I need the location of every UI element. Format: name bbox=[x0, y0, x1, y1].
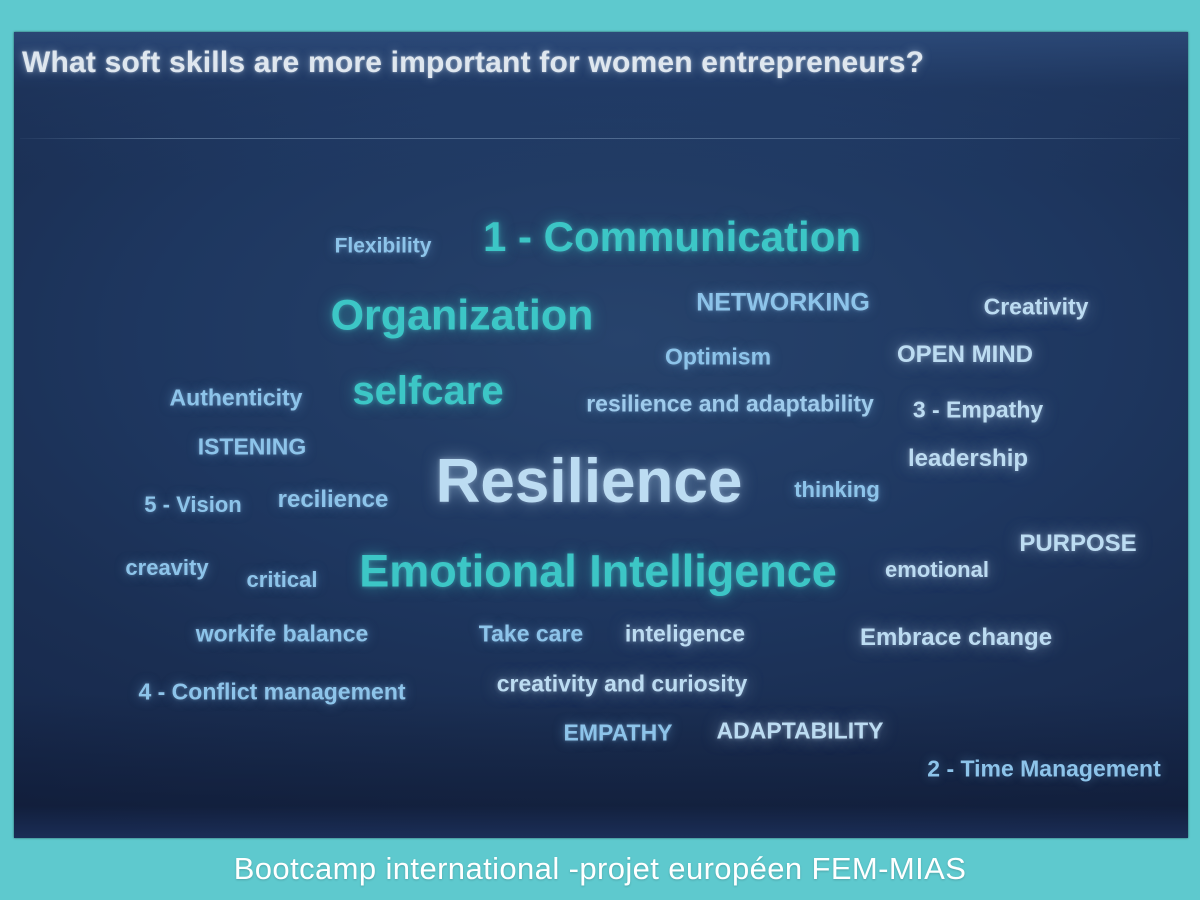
word-cloud-term: Authenticity bbox=[170, 387, 303, 410]
word-cloud-term: thinking bbox=[794, 479, 880, 501]
word-cloud-term: 1 - Communication bbox=[483, 216, 861, 258]
word-cloud-term: recilience bbox=[278, 488, 389, 512]
word-cloud-term: leadership bbox=[908, 447, 1028, 471]
word-cloud-term: workife balance bbox=[196, 623, 369, 646]
word-cloud-term: EMPATHY bbox=[563, 722, 672, 745]
word-cloud-term: creavity bbox=[125, 557, 208, 579]
word-cloud-term: 2 - Time Management bbox=[927, 758, 1160, 781]
caption-banner: Bootcamp international -projet européen … bbox=[0, 838, 1200, 900]
word-cloud-term: Flexibility bbox=[335, 236, 432, 257]
word-cloud-term: Resilience bbox=[436, 451, 743, 513]
word-cloud-term: Optimism bbox=[665, 346, 771, 369]
word-cloud-term: OPEN MIND bbox=[897, 343, 1033, 367]
word-cloud-term: 4 - Conflict management bbox=[138, 681, 405, 704]
word-cloud-term: Embrace change bbox=[860, 626, 1052, 650]
word-cloud-term: NETWORKING bbox=[696, 291, 870, 316]
word-cloud-term: Emotional Intelligence bbox=[359, 549, 837, 594]
word-cloud-term: resilience and adaptability bbox=[586, 393, 874, 416]
word-cloud-term: selfcare bbox=[352, 371, 503, 411]
caption-text: Bootcamp international -projet européen … bbox=[234, 851, 967, 887]
word-cloud-term: Take care bbox=[479, 623, 583, 646]
word-cloud-term: Creativity bbox=[984, 296, 1089, 319]
word-cloud-term: emotional bbox=[885, 559, 989, 581]
word-cloud-term: inteligence bbox=[625, 623, 745, 646]
word-cloud-term: Organization bbox=[331, 295, 594, 338]
screenshot-root: What soft skills are more important for … bbox=[0, 0, 1200, 900]
word-cloud-term: 3 - Empathy bbox=[913, 399, 1043, 422]
word-cloud-term: 5 - Vision bbox=[144, 494, 241, 516]
word-cloud-term: ADAPTABILITY bbox=[717, 720, 884, 743]
word-cloud-term: PURPOSE bbox=[1019, 532, 1136, 556]
word-cloud: Flexibility1 - CommunicationOrganization… bbox=[0, 0, 1200, 900]
word-cloud-term: ISTENING bbox=[198, 436, 307, 459]
word-cloud-term: creativity and curiosity bbox=[497, 673, 748, 696]
word-cloud-term: critical bbox=[247, 569, 318, 591]
